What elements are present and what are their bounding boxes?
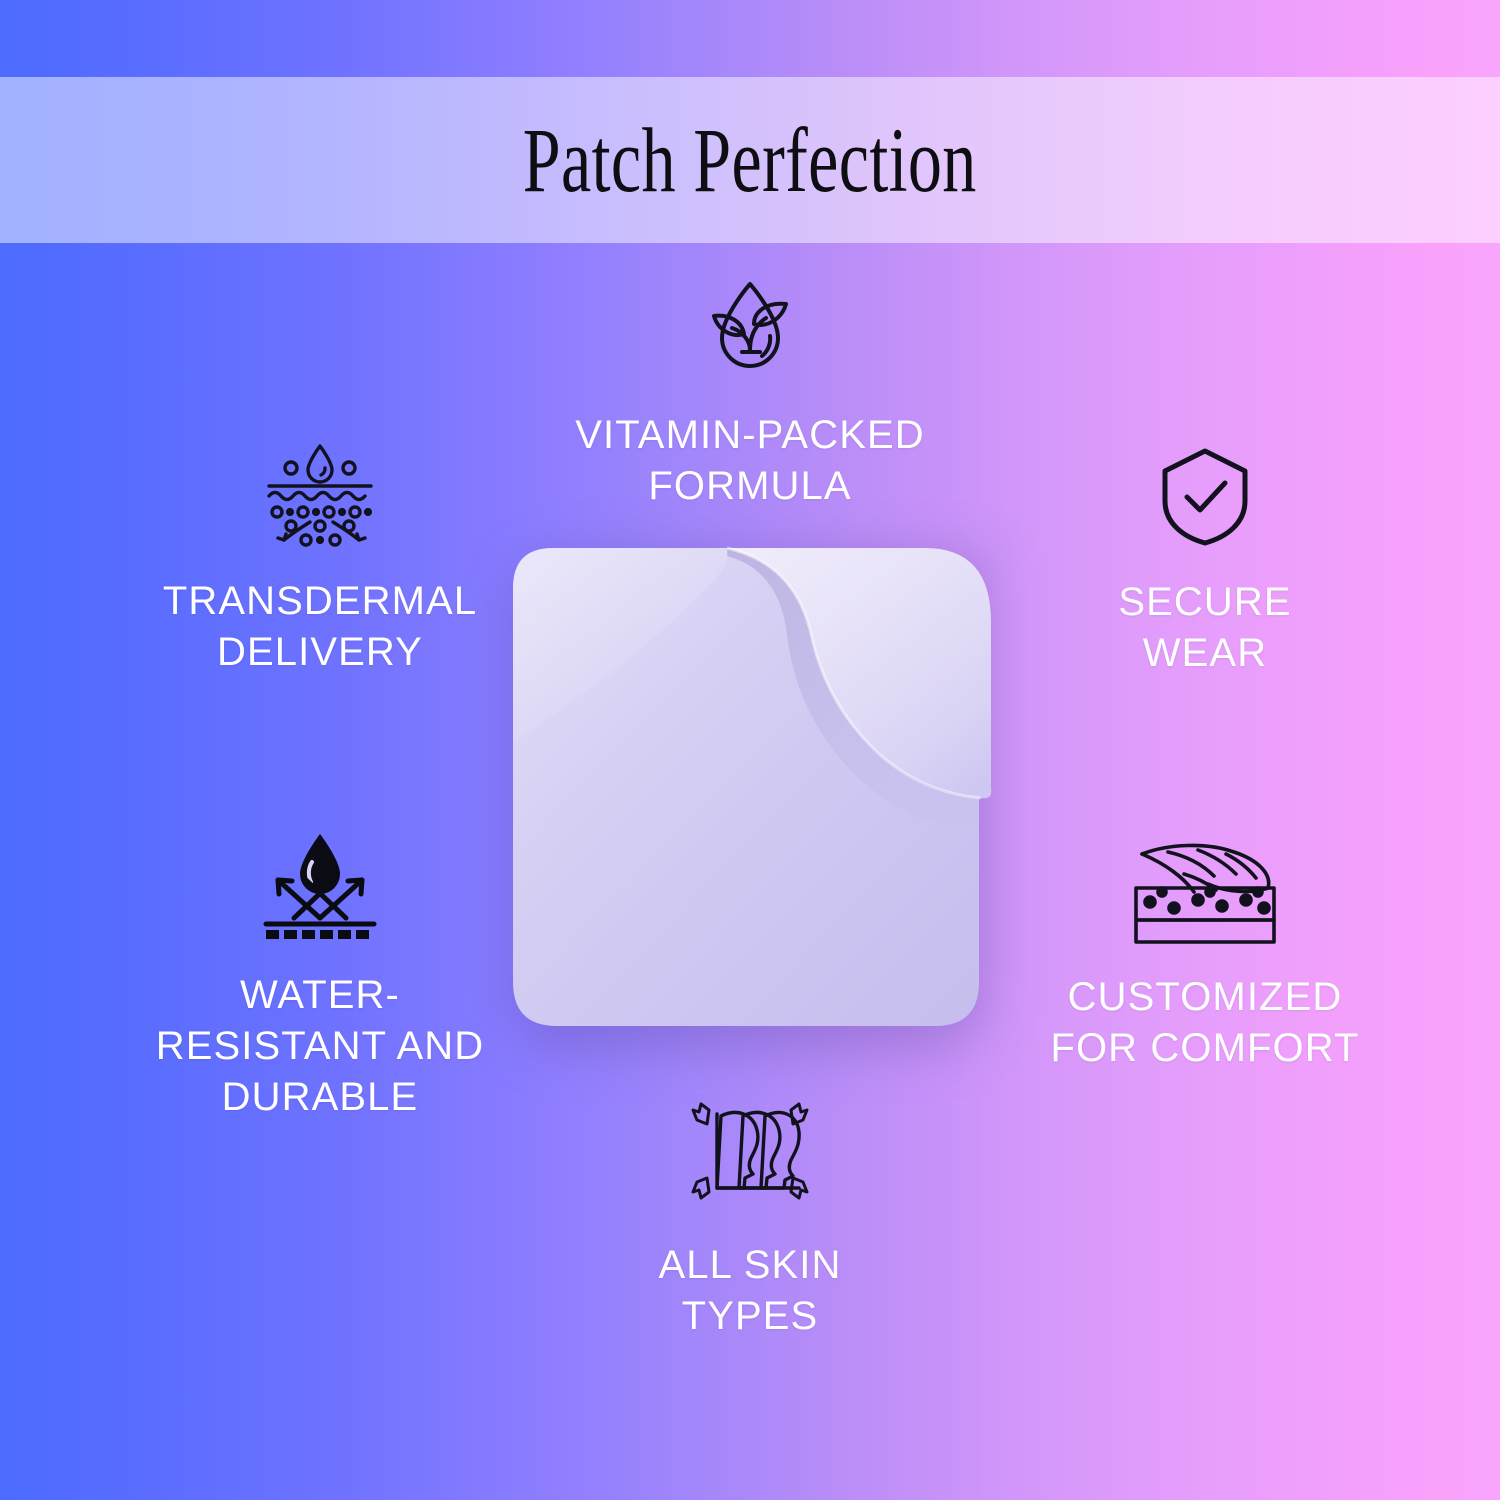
feather-on-skin-icon — [1122, 830, 1288, 948]
droplet-leaf-icon — [700, 276, 800, 386]
title-banner: Patch Perfection — [0, 77, 1500, 243]
feature-label: CUSTOMIZED FOR COMFORT — [1050, 972, 1359, 1074]
feature-customized-for-comfort: CUSTOMIZED FOR COMFORT — [1020, 830, 1390, 1074]
skin-absorption-icon — [261, 440, 379, 548]
feature-transdermal-delivery: TRANSDERMAL DELIVERY — [130, 440, 510, 678]
patch-illustration — [495, 530, 1005, 1060]
feature-label: SECURE WEAR — [1118, 577, 1291, 679]
water-repellent-icon — [256, 828, 384, 942]
feature-secure-wear: SECURE WEAR — [1060, 443, 1350, 679]
feature-label: TRANSDERMAL DELIVERY — [163, 576, 477, 678]
feature-all-skin-types: ALL SKIN TYPES — [590, 1088, 910, 1342]
feature-label: VITAMIN-PACKED FORMULA — [575, 410, 925, 512]
feature-vitamin-packed-formula: VITAMIN-PACKED FORMULA — [530, 276, 970, 512]
page-title: Patch Perfection — [523, 114, 977, 206]
shield-check-icon — [1155, 443, 1255, 549]
feature-label: ALL SKIN TYPES — [659, 1240, 842, 1342]
feature-water-resistant-and-durable: WATER- RESISTANT AND DURABLE — [110, 828, 530, 1124]
infographic-poster: Patch Perfection — [0, 0, 1500, 1500]
feature-label: WATER- RESISTANT AND DURABLE — [156, 970, 484, 1124]
three-faces-icon — [687, 1088, 813, 1214]
product-patch — [495, 530, 1005, 1060]
